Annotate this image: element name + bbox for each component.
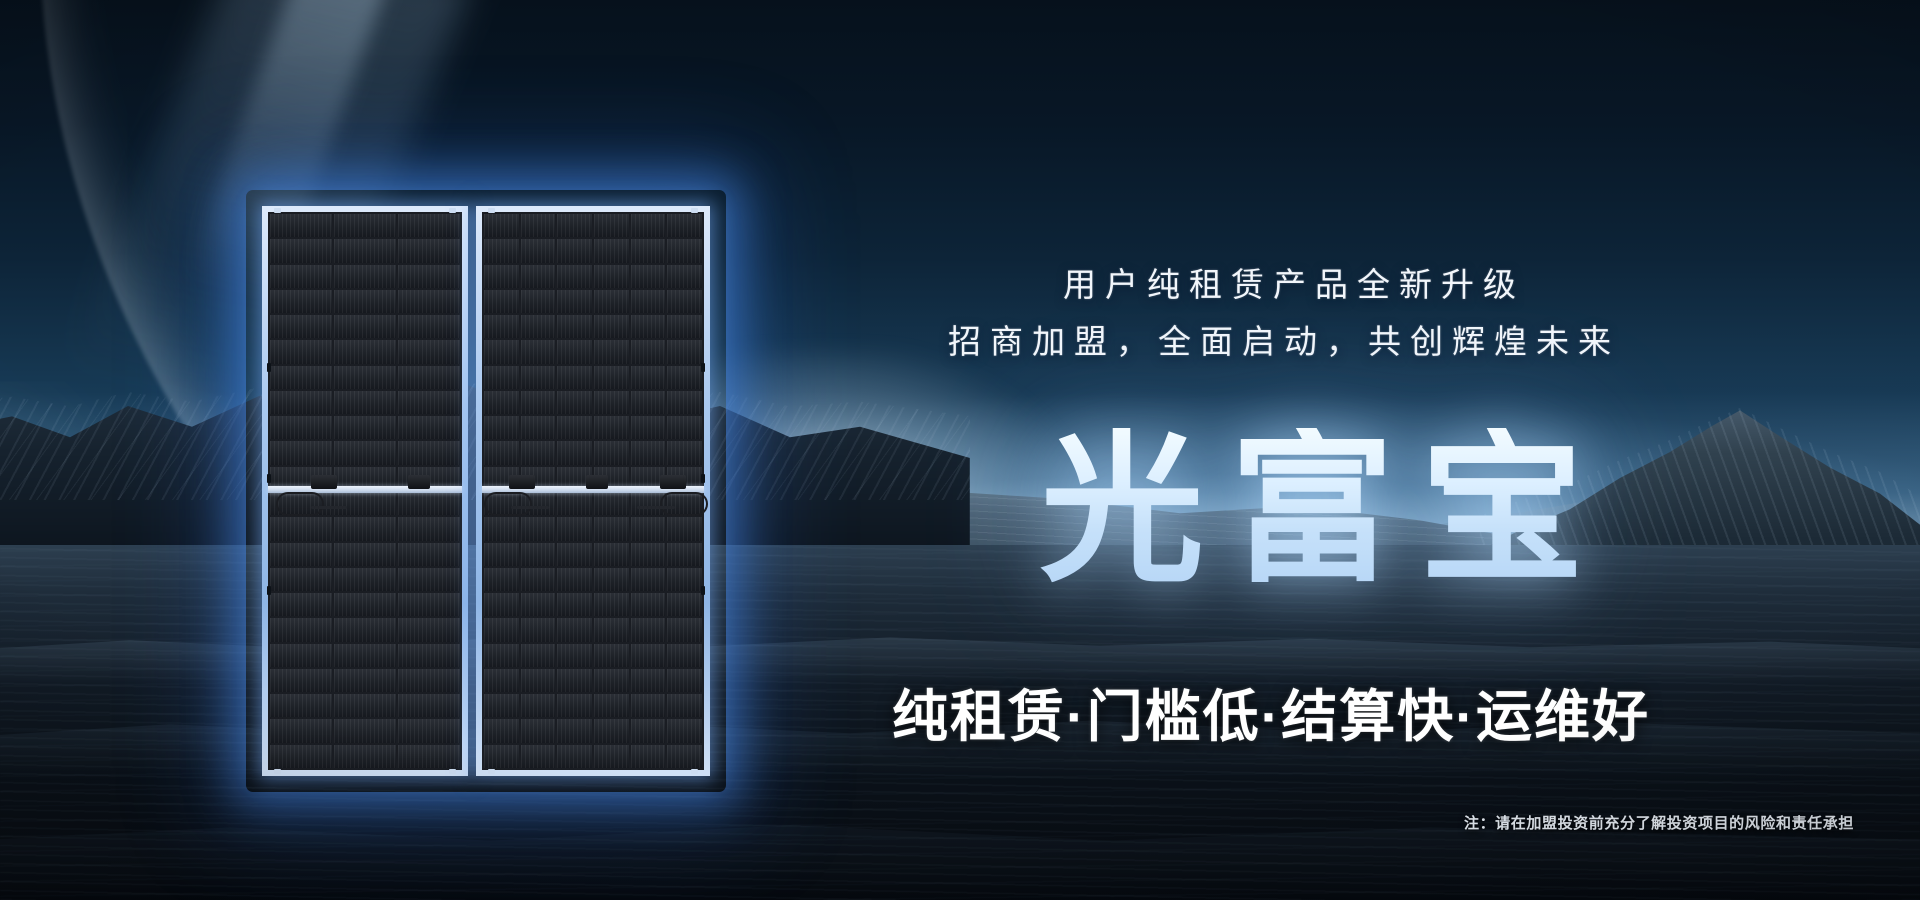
- solar-cell: [594, 694, 629, 717]
- solar-cell: [631, 315, 666, 338]
- solar-cell: [521, 366, 556, 389]
- frame-corner-tab: [274, 208, 281, 213]
- solar-cell: [270, 719, 332, 742]
- frame-corner-tab: [488, 769, 495, 774]
- solar-cell: [557, 543, 592, 566]
- solar-cell: [667, 618, 702, 641]
- frame-corner-tab: [449, 769, 456, 774]
- solar-cell: [270, 391, 332, 414]
- solar-cell: [594, 669, 629, 692]
- solar-cell: [667, 340, 702, 363]
- solar-cell: [334, 517, 396, 540]
- solar-cell: [667, 517, 702, 540]
- solar-cell: [667, 593, 702, 616]
- solar-cell: [594, 517, 629, 540]
- junction-box: [509, 475, 535, 489]
- solar-cell: [521, 568, 556, 591]
- solar-cell: [631, 644, 666, 667]
- solar-cell: [667, 719, 702, 742]
- cable-stub: [311, 506, 347, 509]
- solar-cell: [398, 239, 460, 262]
- frame-corner-tab: [691, 208, 698, 213]
- solar-cell: [334, 239, 396, 262]
- solar-cell: [334, 492, 396, 515]
- solar-cell: [557, 290, 592, 313]
- solar-cell: [398, 644, 460, 667]
- frame-corner-tab: [488, 208, 495, 213]
- solar-cell: [484, 568, 519, 591]
- cable-loop: [276, 492, 324, 516]
- cable-loop: [660, 492, 708, 516]
- solar-cell: [398, 214, 460, 237]
- junction-box: [586, 475, 608, 489]
- solar-cell: [334, 719, 396, 742]
- cable-loop: [484, 492, 532, 516]
- solar-cell: [484, 694, 519, 717]
- brand-title: 光富宝: [1040, 428, 1610, 592]
- solar-cell: [484, 441, 519, 464]
- solar-cell: [270, 543, 332, 566]
- solar-cell: [557, 492, 592, 515]
- solar-cell: [270, 669, 332, 692]
- solar-cell: [270, 265, 332, 288]
- solar-cell: [270, 366, 332, 389]
- solar-cell: [557, 644, 592, 667]
- solar-cell: [521, 593, 556, 616]
- solar-cell: [594, 315, 629, 338]
- solar-cell: [557, 214, 592, 237]
- solar-cell: [594, 719, 629, 742]
- solar-cell: [334, 745, 396, 768]
- solar-cell: [270, 214, 332, 237]
- solar-cell: [484, 214, 519, 237]
- solar-cell: [557, 315, 592, 338]
- solar-cell: [484, 366, 519, 389]
- solar-cell: [594, 290, 629, 313]
- solar-cell: [557, 745, 592, 768]
- solar-cell: [484, 644, 519, 667]
- solar-cell: [521, 644, 556, 667]
- solar-cell: [557, 719, 592, 742]
- solar-cell: [557, 265, 592, 288]
- solar-cell: [521, 694, 556, 717]
- solar-cell: [631, 391, 666, 414]
- solar-cell: [398, 543, 460, 566]
- solar-cell: [334, 618, 396, 641]
- solar-cell: [631, 694, 666, 717]
- solar-cell: [334, 694, 396, 717]
- solar-cell: [398, 694, 460, 717]
- solar-cell: [631, 239, 666, 262]
- solar-panel-right: [476, 206, 710, 776]
- solar-cell: [484, 719, 519, 742]
- solar-cell: [594, 543, 629, 566]
- solar-cell: [521, 543, 556, 566]
- junction-box: [408, 475, 430, 489]
- solar-cell: [521, 618, 556, 641]
- frame-clip: [701, 586, 705, 595]
- solar-cell: [398, 366, 460, 389]
- solar-cell: [270, 745, 332, 768]
- solar-cell: [270, 517, 332, 540]
- solar-cell: [398, 568, 460, 591]
- frame-clip: [701, 363, 705, 372]
- solar-cell: [667, 745, 702, 768]
- solar-cell: [270, 441, 332, 464]
- solar-cell: [484, 543, 519, 566]
- solar-cell: [557, 568, 592, 591]
- solar-cell: [521, 214, 556, 237]
- solar-cell: [334, 593, 396, 616]
- solar-cell: [594, 644, 629, 667]
- solar-cell: [631, 618, 666, 641]
- cable-stub: [637, 506, 675, 509]
- solar-cell: [334, 669, 396, 692]
- solar-cell: [270, 568, 332, 591]
- solar-cell: [398, 290, 460, 313]
- solar-cell: [398, 441, 460, 464]
- solar-cell: [484, 416, 519, 439]
- solar-cell: [521, 416, 556, 439]
- solar-cell: [667, 694, 702, 717]
- solar-cell: [557, 441, 592, 464]
- solar-cell: [667, 568, 702, 591]
- solar-cell: [667, 265, 702, 288]
- solar-cell: [594, 340, 629, 363]
- solar-cell: [398, 315, 460, 338]
- solar-cell: [484, 391, 519, 414]
- solar-cell: [398, 719, 460, 742]
- frame-corner-tab: [274, 769, 281, 774]
- solar-cell: [557, 416, 592, 439]
- solar-cell: [631, 441, 666, 464]
- solar-cell: [398, 669, 460, 692]
- solar-cell: [521, 719, 556, 742]
- solar-cell: [594, 265, 629, 288]
- solar-cell: [334, 340, 396, 363]
- solar-cell: [270, 340, 332, 363]
- solar-cell: [594, 492, 629, 515]
- solar-cell: [557, 618, 592, 641]
- solar-cell: [594, 214, 629, 237]
- solar-cell: [631, 568, 666, 591]
- solar-cell: [631, 290, 666, 313]
- solar-cell: [631, 719, 666, 742]
- solar-cell: [484, 517, 519, 540]
- solar-cell: [557, 669, 592, 692]
- cable-stub: [511, 506, 549, 509]
- solar-cell: [667, 441, 702, 464]
- solar-cell: [521, 745, 556, 768]
- solar-cell: [667, 543, 702, 566]
- solar-panel-product: [262, 206, 710, 776]
- solar-cell: [521, 290, 556, 313]
- solar-cell: [594, 366, 629, 389]
- solar-cell: [594, 239, 629, 262]
- solar-cell: [334, 214, 396, 237]
- solar-cell: [594, 568, 629, 591]
- solar-cell: [667, 391, 702, 414]
- solar-cell: [334, 416, 396, 439]
- solar-cell: [398, 492, 460, 515]
- solar-cell: [667, 366, 702, 389]
- solar-cell: [398, 618, 460, 641]
- frame-clip: [701, 474, 705, 483]
- solar-cell: [521, 315, 556, 338]
- solar-cell: [594, 745, 629, 768]
- solar-cell: [521, 391, 556, 414]
- solar-cell: [334, 568, 396, 591]
- solar-cell: [594, 593, 629, 616]
- solar-cell: [270, 618, 332, 641]
- solar-cell: [270, 239, 332, 262]
- solar-cell: [667, 239, 702, 262]
- solar-cell: [631, 669, 666, 692]
- junction-box: [311, 475, 337, 489]
- solar-cell: [667, 416, 702, 439]
- solar-cell: [631, 340, 666, 363]
- solar-cell: [484, 618, 519, 641]
- solar-cell: [594, 416, 629, 439]
- tagline: 纯租赁·门槛低·结算快·运维好: [892, 672, 1650, 753]
- solar-cell: [334, 315, 396, 338]
- solar-cell: [334, 265, 396, 288]
- frame-corner-tab: [691, 769, 698, 774]
- solar-cell: [484, 315, 519, 338]
- solar-cell: [334, 441, 396, 464]
- solar-cell: [484, 593, 519, 616]
- solar-cell: [270, 593, 332, 616]
- solar-cell: [667, 644, 702, 667]
- headline-line-1: 用户纯租赁产品全新升级: [1063, 258, 1525, 306]
- solar-cell: [334, 543, 396, 566]
- solar-cell: [334, 366, 396, 389]
- solar-cell: [398, 391, 460, 414]
- headline-line-2: 招商加盟，全面启动，共创辉煌未来: [948, 315, 1620, 363]
- solar-cell: [270, 315, 332, 338]
- solar-cell: [334, 391, 396, 414]
- solar-cell: [484, 340, 519, 363]
- frame-clip: [267, 586, 271, 595]
- solar-cell: [334, 644, 396, 667]
- frame-clip: [267, 363, 271, 372]
- solar-cell: [521, 265, 556, 288]
- solar-cell: [398, 593, 460, 616]
- solar-cell: [521, 669, 556, 692]
- solar-cell: [594, 441, 629, 464]
- solar-cell: [398, 517, 460, 540]
- solar-cell: [521, 517, 556, 540]
- solar-cell: [667, 669, 702, 692]
- solar-cell: [631, 543, 666, 566]
- solar-cell: [398, 416, 460, 439]
- solar-cell: [270, 644, 332, 667]
- solar-cell: [631, 366, 666, 389]
- junction-box: [660, 475, 686, 489]
- solar-cell: [557, 593, 592, 616]
- solar-cell: [484, 265, 519, 288]
- solar-cell: [631, 416, 666, 439]
- frame-clip: [267, 474, 271, 483]
- solar-cell: [557, 517, 592, 540]
- solar-cell: [398, 340, 460, 363]
- solar-cell: [398, 745, 460, 768]
- solar-cell: [334, 290, 396, 313]
- solar-cell: [270, 416, 332, 439]
- solar-cell: [484, 669, 519, 692]
- solar-cell: [270, 290, 332, 313]
- solar-cell: [667, 290, 702, 313]
- solar-cell: [557, 340, 592, 363]
- solar-cell: [631, 265, 666, 288]
- solar-cell: [557, 391, 592, 414]
- promo-banner: 用户纯租赁产品全新升级 招商加盟，全面启动，共创辉煌未来 光富宝 纯租赁·门槛低…: [0, 0, 1920, 900]
- solar-cell: [484, 745, 519, 768]
- solar-cell: [667, 214, 702, 237]
- solar-cell: [631, 745, 666, 768]
- solar-cell: [521, 340, 556, 363]
- solar-cell: [594, 391, 629, 414]
- solar-cell: [631, 214, 666, 237]
- frame-corner-tab: [449, 208, 456, 213]
- solar-cell: [398, 265, 460, 288]
- solar-cell: [557, 239, 592, 262]
- solar-cell: [631, 517, 666, 540]
- solar-cell: [484, 239, 519, 262]
- solar-cell: [667, 315, 702, 338]
- solar-cell: [484, 290, 519, 313]
- solar-cell: [521, 441, 556, 464]
- disclaimer-footnote: 注：请在加盟投资前充分了解投资项目的风险和责任承担: [1464, 812, 1854, 833]
- solar-cell: [557, 366, 592, 389]
- solar-cell: [631, 593, 666, 616]
- solar-cell: [594, 618, 629, 641]
- solar-cell: [270, 694, 332, 717]
- solar-panel-left: [262, 206, 468, 776]
- solar-cell: [557, 694, 592, 717]
- solar-cell: [521, 239, 556, 262]
